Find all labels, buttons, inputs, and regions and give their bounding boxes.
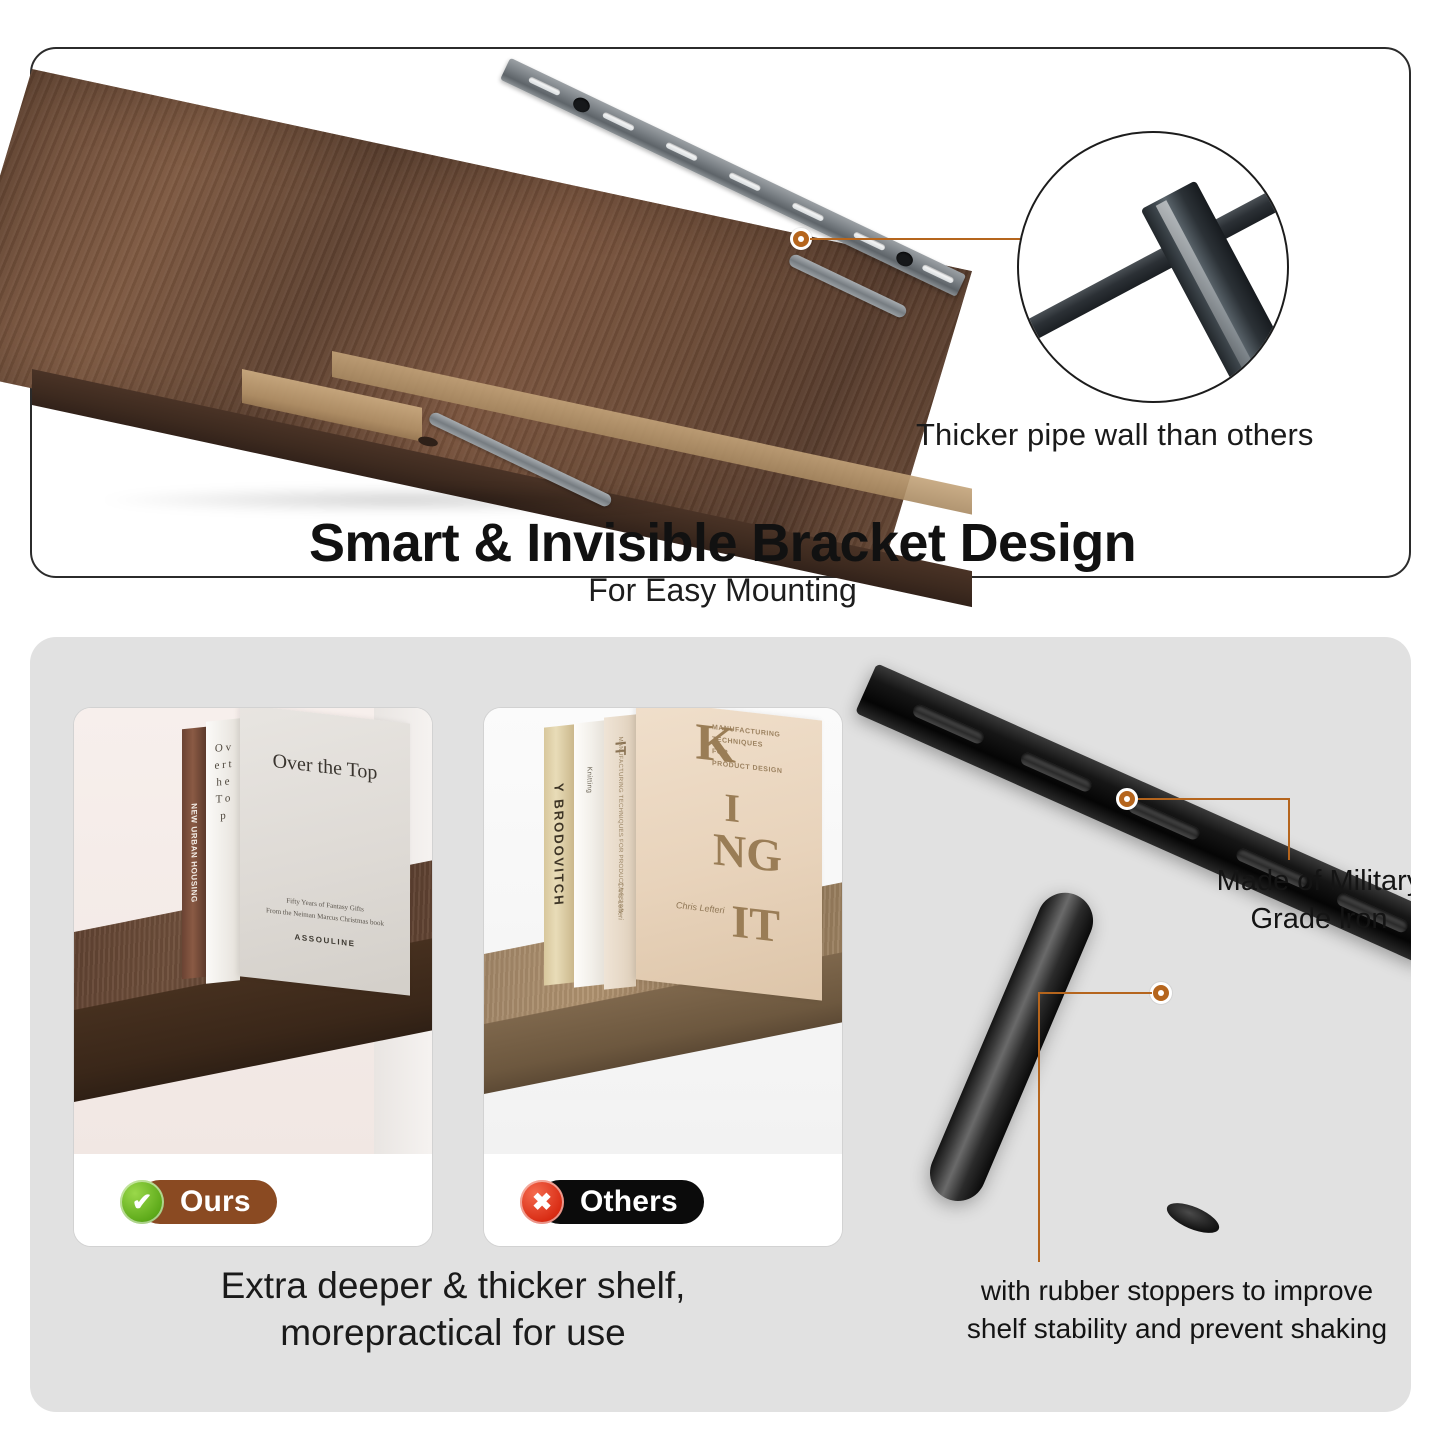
status-badge-ours: ✔ Ours <box>120 1180 277 1224</box>
bracket-rod-left <box>427 411 613 509</box>
military-grade-caption: Made of Military Grade lron <box>1189 862 1411 939</box>
bracket-slot <box>1127 799 1202 842</box>
callout-leader-line <box>810 238 1020 240</box>
magnifier-circle-icon <box>1017 131 1289 403</box>
thicker-pipe-caption: Thicker pipe wall than others <box>916 417 1396 453</box>
book-cover-word-ng: NG <box>713 826 782 880</box>
comparison-panel: NEW URBAN HOUSING O v e r t h e T o p Ov… <box>30 637 1411 1412</box>
bracket-slot <box>728 172 761 192</box>
black-bracket-pipe-end <box>1163 1197 1223 1239</box>
book-cover-word-k: K <box>696 716 736 773</box>
comparison-card-ours: NEW URBAN HOUSING O v e r t h e T o p Ov… <box>73 707 433 1247</box>
bracket-design-panel: Thicker pipe wall than others Smart & In… <box>30 47 1411 578</box>
book-spine-making-it: IT MANUFACTURING TECHNIQUES FOR PRODUCT … <box>604 714 636 989</box>
cross-icon: ✖ <box>520 1180 564 1224</box>
book-spine-label: Knitting <box>586 766 593 793</box>
bracket-slot <box>1019 751 1094 794</box>
bracket-hole <box>894 249 915 269</box>
book-cover-word-i: I <box>724 787 740 829</box>
ours-badge-bar: ✔ Ours <box>74 1154 432 1246</box>
bracket-slot <box>921 264 954 284</box>
caption-line-1: Extra deeper & thicker shelf, <box>73 1262 833 1309</box>
callout-leader-line <box>1038 992 1152 994</box>
book-spine-art: O v e r t h e T o p <box>206 718 240 984</box>
book-cover-over-the-top: Over the Top Fifty Years of Fantasy Gift… <box>240 708 410 996</box>
others-photo: Y BRODOVITCH Knitting IT MANUFACTURING T… <box>484 708 842 1156</box>
book-cover-making-it: MANUFACTURING TECHNIQUES FOR PRODUCT DES… <box>636 708 822 1001</box>
bracket-slot <box>791 202 824 222</box>
bracket-slot <box>528 76 561 96</box>
book-spine-brodovitch: Y BRODOVITCH <box>544 724 574 985</box>
book-cover-word-it: IT <box>731 898 780 950</box>
bracket-hole <box>571 95 592 115</box>
military-line-2: Grade lron <box>1189 900 1411 938</box>
book-spine-label: NEW URBAN HOUSING <box>190 803 199 903</box>
rubber-stopper-caption: with rubber stoppers to improve shelf st… <box>912 1272 1411 1347</box>
military-line-1: Made of Military <box>1189 862 1411 900</box>
book-spine-knitting: Knitting <box>574 720 604 987</box>
page-title: Smart & Invisible Bracket Design <box>32 512 1413 574</box>
callout-leader-line <box>1038 992 1040 1262</box>
rubber-line-2: shelf stability and prevent shaking <box>912 1310 1411 1348</box>
callout-dot-icon <box>1150 982 1172 1004</box>
bracket-slot <box>602 111 635 131</box>
callout-leader-line <box>1288 798 1290 860</box>
others-badge-bar: ✖ Others <box>484 1154 842 1246</box>
comparison-card-others: Y BRODOVITCH Knitting IT MANUFACTURING T… <box>483 707 843 1247</box>
book-spine-label: Y BRODOVITCH <box>552 782 567 907</box>
caption-line-2: morepractical for use <box>73 1309 833 1356</box>
book-spine-vertical-title: O v e r t h e T o p <box>212 739 234 827</box>
shelf-benefit-caption: Extra deeper & thicker shelf, morepracti… <box>73 1262 833 1357</box>
book-spine-author: Chris Lefteri <box>617 882 624 920</box>
callout-dot-icon <box>1116 788 1138 810</box>
status-badge-others: ✖ Others <box>520 1180 704 1224</box>
bracket-slot <box>853 231 886 251</box>
rubber-line-1: with rubber stoppers to improve <box>912 1272 1411 1310</box>
book-spine-urban-housing: NEW URBAN HOUSING <box>182 727 206 980</box>
black-bracket-pipe <box>921 884 1101 1210</box>
book-cover-title: Over the Top <box>240 746 410 788</box>
bracket-slot <box>911 703 986 746</box>
callout-leader-line <box>1138 798 1290 800</box>
callout-dot-icon <box>790 228 812 250</box>
check-icon: ✔ <box>120 1180 164 1224</box>
book-cover-author: Chris Lefteri <box>676 900 725 916</box>
gray-bracket-image <box>432 264 972 514</box>
bracket-slot <box>665 142 698 162</box>
page-subtitle: For Easy Mounting <box>32 572 1413 609</box>
book-publisher: ASSOULINE <box>240 926 410 954</box>
ours-photo: NEW URBAN HOUSING O v e r t h e T o p Ov… <box>74 708 432 1156</box>
infographic-root: Thicker pipe wall than others Smart & In… <box>0 0 1445 1430</box>
